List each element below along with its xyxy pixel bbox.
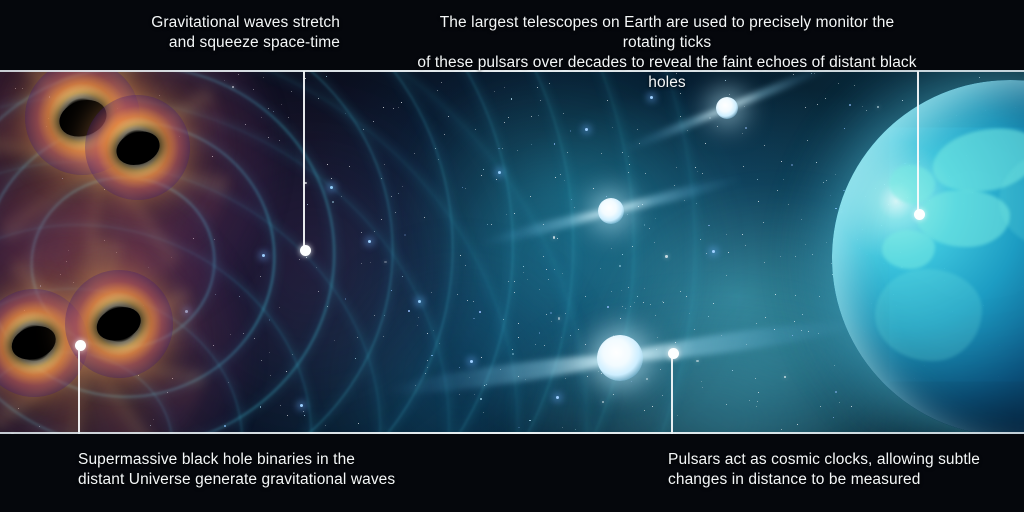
landmass-iberia — [882, 230, 935, 269]
leader-telescopes-dot — [914, 209, 925, 220]
leader-binaries — [78, 345, 80, 434]
leader-binaries-dot — [75, 340, 86, 351]
caption-telescopes: The largest telescopes on Earth are used… — [414, 13, 920, 93]
bottom-divider-rule — [0, 432, 1024, 434]
leader-pulsars — [671, 353, 673, 434]
caption-gravitational-waves: Gravitational waves stretch and squeeze … — [130, 13, 340, 53]
leader-waves-dot — [300, 245, 311, 256]
caption-pulsars-clocks: Pulsars act as cosmic clocks, allowing s… — [668, 450, 988, 490]
leader-pulsars-dot — [668, 348, 679, 359]
landmass-africa — [875, 269, 982, 362]
caption-black-hole-binaries: Supermassive black hole binaries in the … — [78, 450, 408, 490]
leader-waves — [303, 71, 305, 250]
infographic-canvas: Gravitational waves stretch and squeeze … — [0, 0, 1024, 512]
